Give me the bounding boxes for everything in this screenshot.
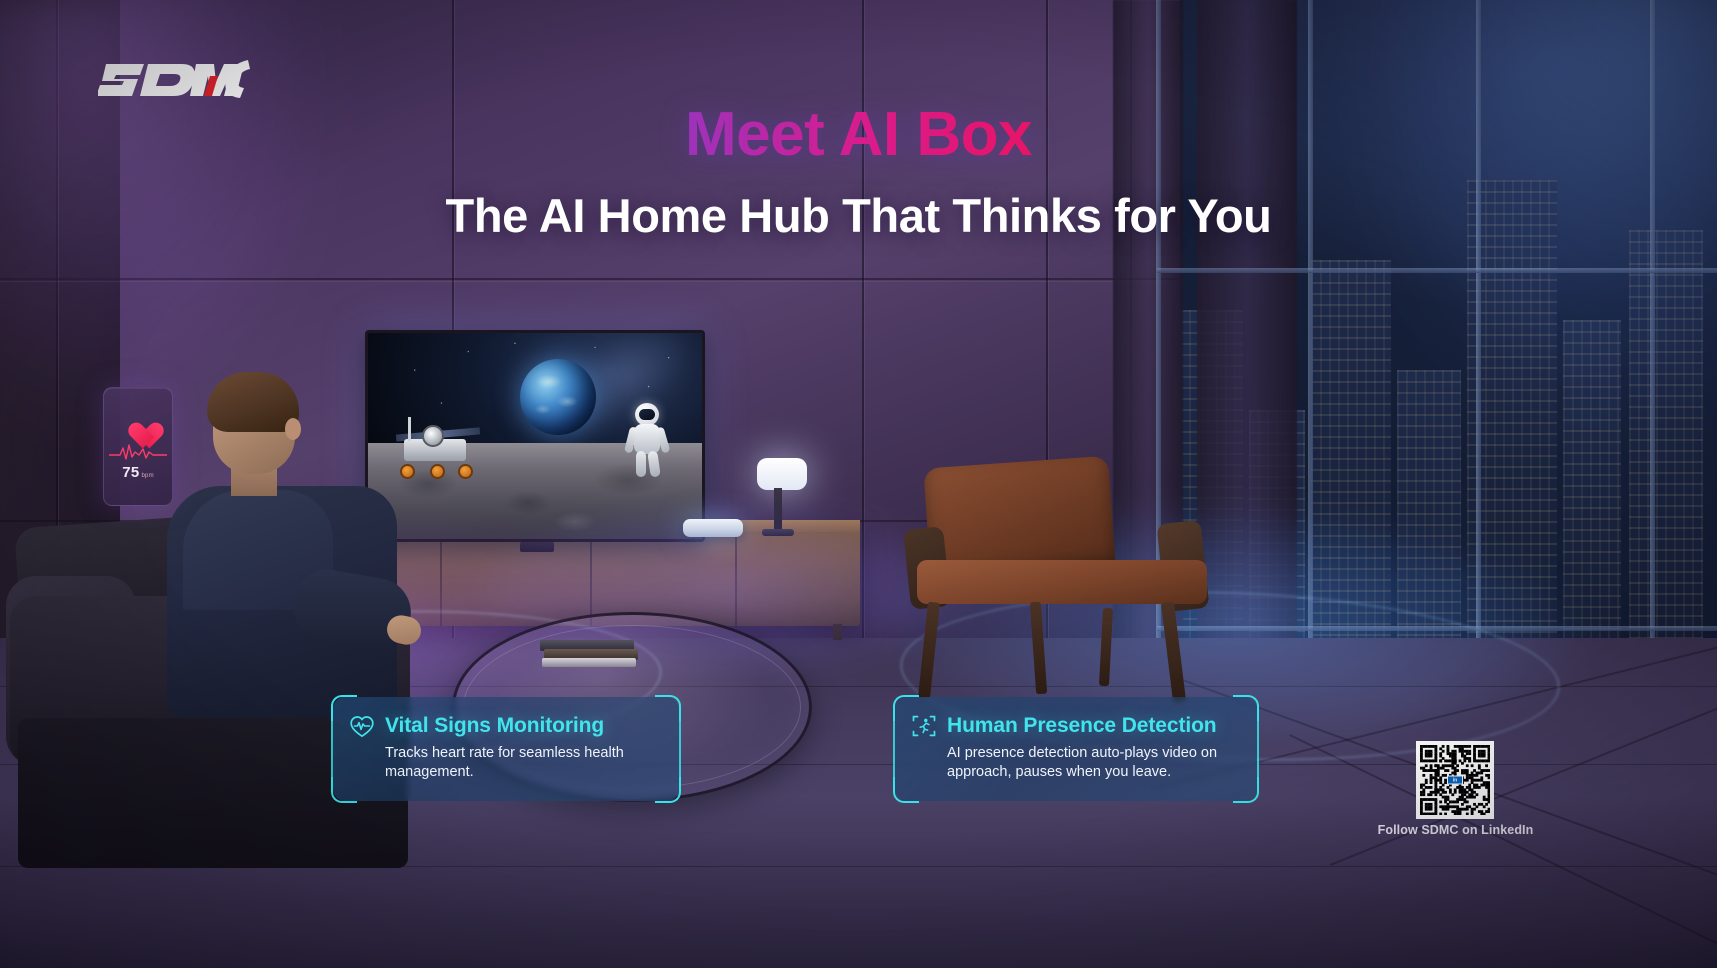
heart-pulse-icon bbox=[349, 713, 375, 739]
ecg-waveform-icon bbox=[109, 443, 167, 461]
feature-card-description: Tracks heart rate for seamless health ma… bbox=[385, 744, 660, 781]
heart-icon bbox=[123, 412, 153, 440]
promo-banner: 75 bpm Meet AI Box The AI Home Hub That … bbox=[0, 0, 1717, 968]
linkedin-badge: in bbox=[1447, 776, 1463, 785]
human-presence-detection-icon bbox=[911, 713, 937, 739]
person-watching-tv bbox=[175, 378, 405, 718]
armchair bbox=[905, 462, 1215, 712]
feature-card-description: AI presence detection auto-plays video o… bbox=[947, 744, 1237, 781]
books-on-table bbox=[540, 640, 640, 670]
ai-box-device bbox=[683, 519, 743, 537]
table-lamp bbox=[757, 458, 807, 490]
astronaut-graphic bbox=[626, 403, 668, 477]
earth-graphic bbox=[520, 359, 596, 435]
heart-rate-readout: 75 bpm bbox=[122, 464, 154, 481]
feature-card-vital-signs[interactable]: Vital Signs Monitoring Tracks heart rate… bbox=[333, 697, 679, 801]
heart-rate-value: 75 bbox=[122, 464, 139, 481]
rover-graphic bbox=[392, 429, 482, 481]
heart-rate-monitor-panel: 75 bpm bbox=[103, 387, 173, 506]
television bbox=[365, 330, 705, 542]
feature-card-title: Vital Signs Monitoring bbox=[385, 714, 604, 738]
qr-caption: Follow SDMC on LinkedIn bbox=[1334, 823, 1577, 837]
linkedin-qr-code[interactable]: in bbox=[1416, 741, 1494, 819]
heart-rate-unit: bpm bbox=[142, 473, 154, 479]
feature-card-title: Human Presence Detection bbox=[947, 714, 1217, 738]
page-subtitle: The AI Home Hub That Thinks for You bbox=[0, 190, 1717, 242]
page-title: Meet AI Box bbox=[0, 104, 1717, 166]
feature-card-human-presence[interactable]: Human Presence Detection AI presence det… bbox=[895, 697, 1257, 801]
sdmc-logo[interactable] bbox=[98, 52, 258, 102]
